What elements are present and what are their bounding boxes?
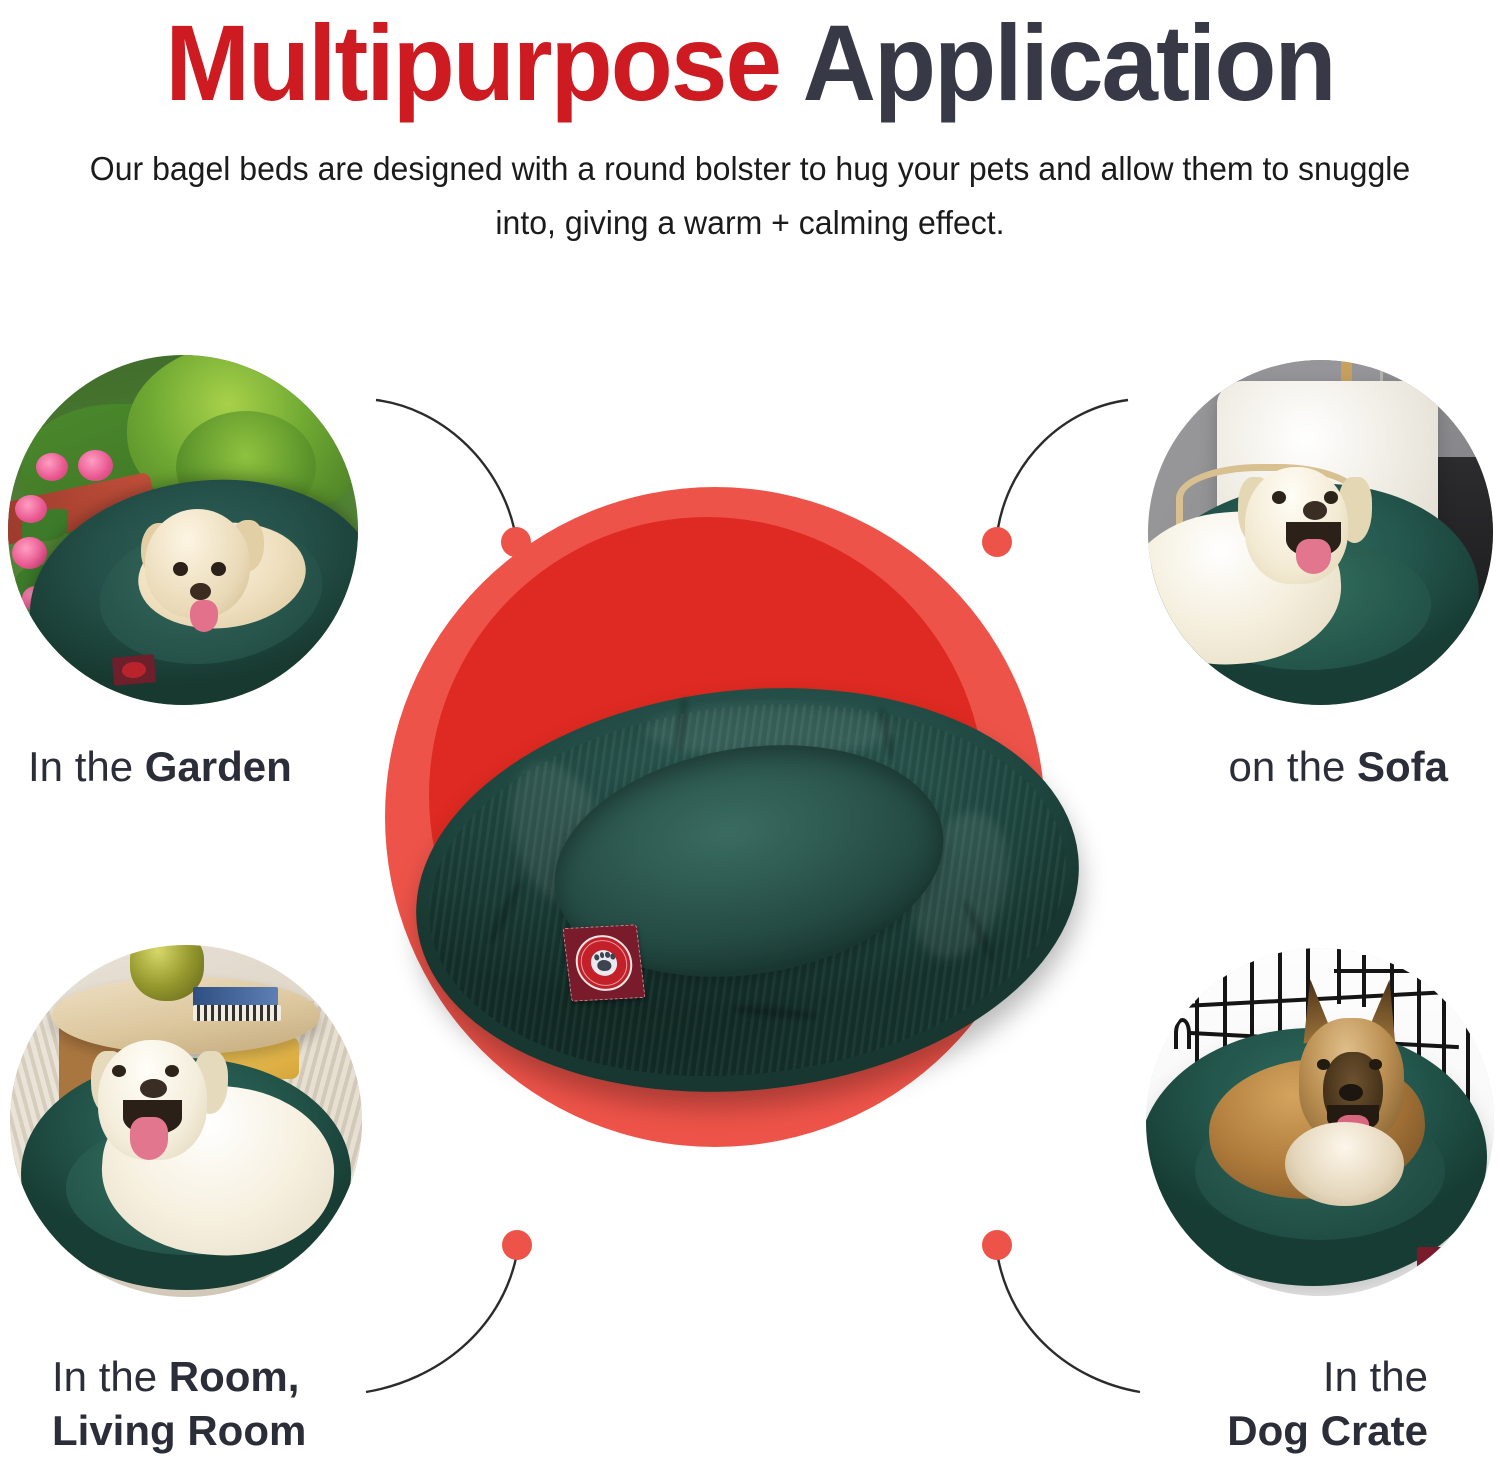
livingroom-dog-tongue	[130, 1117, 169, 1159]
caption-livingroom-line1: In the Room,	[52, 1350, 306, 1404]
crate-bar	[1334, 969, 1411, 973]
scene-sofa	[1148, 360, 1493, 705]
garden-flower	[12, 537, 47, 569]
caption-dogcrate-prefix: In the	[1323, 1353, 1428, 1400]
caption-livingroom-prefix: In the	[52, 1353, 169, 1400]
garden-flower	[36, 453, 68, 481]
garden-flower	[15, 495, 47, 523]
page-subtitle: Our bagel beds are designed with a round…	[71, 142, 1429, 249]
paw-toe	[610, 953, 615, 959]
crate-bed-brand-tag	[1417, 1247, 1445, 1268]
brand-seal	[573, 934, 636, 993]
sofa-dog-tongue	[1296, 539, 1331, 574]
caption-livingroom-bold: Room,	[169, 1353, 300, 1400]
callout-photo-garden	[8, 355, 358, 705]
caption-livingroom: In the Room, Living Room	[52, 1350, 306, 1458]
caption-livingroom-line2-bold: Living Room	[52, 1407, 306, 1454]
caption-dogcrate-line2: Dog Crate	[1227, 1404, 1428, 1458]
crate-dog-chest-ruff	[1285, 1122, 1403, 1206]
caption-sofa-prefix: on the	[1229, 743, 1357, 790]
connector-dot-dogcrate	[982, 1230, 1012, 1260]
caption-sofa: on the Sofa	[1229, 740, 1448, 794]
connector-line-dogcrate	[998, 1258, 1140, 1392]
livingroom-dog-nose	[140, 1079, 166, 1098]
livingroom-dog-eye	[165, 1065, 179, 1077]
crate-dog-eye	[1317, 1059, 1330, 1069]
scene-livingroom	[10, 945, 362, 1297]
callout-photo-sofa	[1148, 360, 1493, 705]
scene-dogcrate	[1146, 948, 1494, 1296]
callout-photo-dogcrate	[1146, 948, 1494, 1296]
connector-dot-livingroom	[502, 1230, 532, 1260]
header: Multipurpose Application Our bagel beds …	[0, 0, 1500, 249]
caption-garden-bold: Garden	[145, 743, 292, 790]
paw-toe	[605, 951, 610, 957]
callout-photo-livingroom	[10, 945, 362, 1297]
brand-tag-majestic-pet	[562, 924, 645, 1001]
title-word-multipurpose: Multipurpose	[165, 2, 780, 123]
garden-dog-nose	[190, 583, 211, 601]
sofa-dog-eye	[1272, 491, 1286, 503]
caption-dogcrate-line2-bold: Dog Crate	[1227, 1407, 1428, 1454]
caption-livingroom-line2: Living Room	[52, 1404, 306, 1458]
connector-line-livingroom	[366, 1258, 516, 1392]
livingroom-book	[193, 1005, 281, 1021]
crate-dog-eye	[1369, 1059, 1382, 1069]
crate-latch	[1174, 1018, 1191, 1049]
paw-toe	[594, 954, 599, 960]
garden-dog-eye	[173, 562, 188, 577]
caption-dogcrate-line1: In the	[1227, 1350, 1428, 1404]
caption-garden: In the Garden	[28, 740, 292, 794]
caption-dogcrate: In the Dog Crate	[1227, 1350, 1428, 1458]
livingroom-dog-eye	[112, 1065, 126, 1077]
caption-sofa-bold: Sofa	[1357, 743, 1448, 790]
garden-dog-tongue	[190, 600, 218, 632]
paw-toe	[599, 952, 604, 958]
product-image-bagel-bed	[415, 690, 1080, 1110]
livingroom-book	[193, 987, 277, 1006]
sofa-dog-eye	[1324, 491, 1338, 503]
scene-garden	[8, 355, 358, 705]
page-title: Multipurpose Application	[45, 6, 1455, 120]
garden-flower	[78, 450, 113, 482]
crate-bar	[1362, 955, 1366, 1007]
title-word-application: Application	[803, 2, 1335, 123]
caption-garden-prefix: In the	[28, 743, 145, 790]
garden-bed-brand-tag	[112, 654, 156, 686]
